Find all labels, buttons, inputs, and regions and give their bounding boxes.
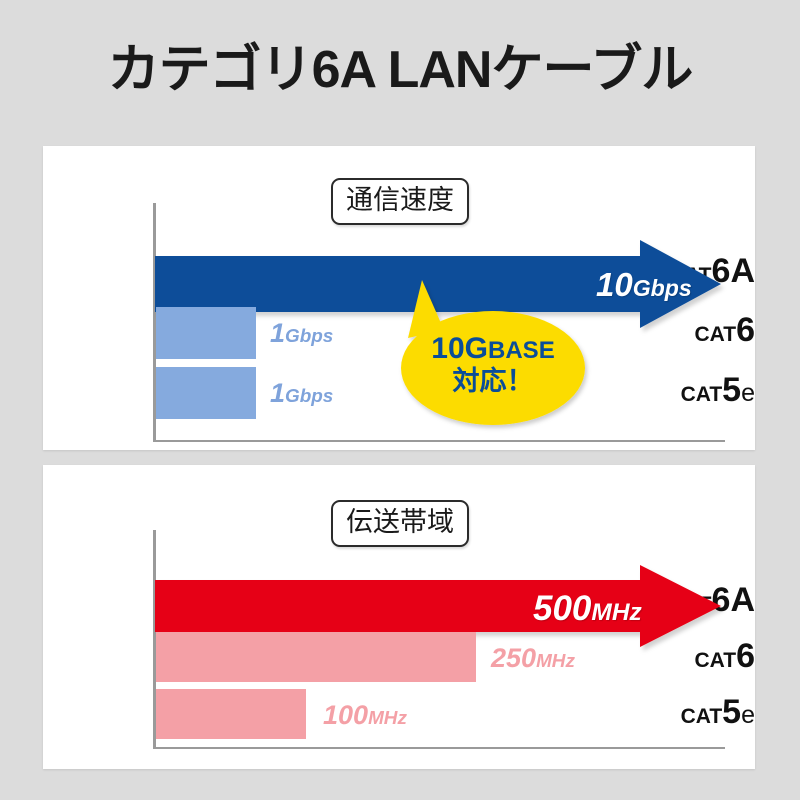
cat-prefix: CAT [694,649,736,672]
value-unit: Gbps [633,275,692,301]
value-unit: MHz [536,651,575,672]
value-label-cat5e-speed: 1Gbps [270,380,333,407]
value-label-cat6-speed: 1Gbps [270,320,333,347]
cat-label-5e-speed: CAT5e [655,373,755,407]
value-unit: MHz [591,599,641,626]
cat-suffix: A [730,252,755,290]
cat-suffix: e [741,379,755,407]
cat-suffix: e [741,701,755,729]
cat-prefix: CAT [681,383,723,406]
cat-prefix: CAT [681,705,723,728]
bar-cat6-bandwidth [156,632,476,682]
bar-cat6-speed [156,307,256,359]
value-number: 250 [491,643,536,673]
section-label-communication-speed: 通信速度 [331,178,469,225]
cat-main: 6 [736,637,755,675]
value-number: 100 [323,700,368,730]
value-label-cat5e-bandwidth: 100MHz [323,702,407,729]
chart-baseline-speed [153,440,725,442]
cat-main: 5 [722,371,741,409]
cat-main: 5 [722,693,741,731]
bar-cat5e-bandwidth [156,689,306,739]
value-label-cat6a-bandwidth: 500MHz [533,591,642,626]
bar-cat5e-speed [156,367,256,419]
value-number: 10 [596,266,633,303]
value-label-cat6a-speed: 10Gbps [596,268,692,301]
value-unit: Gbps [285,326,333,347]
callout-10gbase: 10GBASE 対応！ [398,276,588,426]
value-number: 500 [533,589,591,628]
page-title: カテゴリ6A LANケーブル [0,44,800,96]
value-number: 1 [270,378,285,408]
chart-baseline-bandwidth [153,747,725,749]
section-label-transmission-bandwidth: 伝送帯域 [331,500,469,547]
cat-suffix: A [730,581,755,619]
value-label-cat6-bandwidth: 250MHz [491,645,575,672]
cat-label-5e-bandwidth: CAT5e [655,695,755,729]
value-number: 1 [270,318,285,348]
value-unit: Gbps [285,386,333,407]
value-unit: MHz [368,708,407,729]
cat-main: 6 [736,311,755,349]
